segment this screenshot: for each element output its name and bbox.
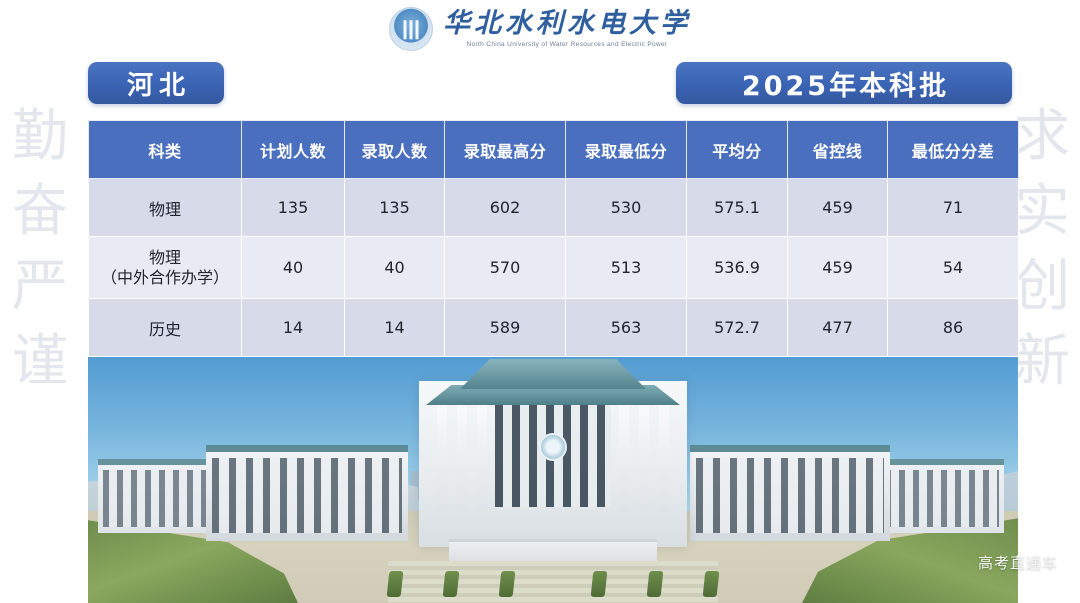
table-row: 物理 135 135 602 530 575.1 459 71 xyxy=(89,179,1019,237)
watermark-left-char-4: 谨 xyxy=(12,333,68,390)
cell-planned: 135 xyxy=(242,179,345,237)
watermark-left: 勤 奋 严 谨 xyxy=(0,108,82,390)
cell-min-diff: 86 xyxy=(888,299,1019,357)
photo-stairs xyxy=(388,561,718,603)
column-header-avg-score: 平均分 xyxy=(687,121,788,179)
photo-column xyxy=(457,395,467,511)
column-header-provincial-line: 省控线 xyxy=(788,121,888,179)
photo-shrub xyxy=(499,571,516,597)
photo-shrub xyxy=(647,571,664,597)
photo-shrub xyxy=(703,571,720,597)
admission-score-table: 科类 计划人数 录取人数 录取最高分 录取最低分 平均分 省控线 最低分分差 物… xyxy=(88,120,1018,357)
column-header-min-diff: 最低分分差 xyxy=(888,121,1019,179)
table-row: 物理 （中外合作办学） 40 40 570 513 536.9 459 54 xyxy=(89,237,1019,299)
column-header-min-score: 录取最低分 xyxy=(566,121,687,179)
photo-column xyxy=(437,395,447,511)
photo-column xyxy=(477,395,487,511)
photo-shrub xyxy=(387,571,404,597)
cell-max-score: 589 xyxy=(445,299,566,357)
cell-planned: 14 xyxy=(242,299,345,357)
cell-provincial-line: 459 xyxy=(788,237,888,299)
region-badge[interactable]: 河北 xyxy=(88,62,224,104)
cell-avg-score: 575.1 xyxy=(687,179,788,237)
cell-avg-score: 536.9 xyxy=(687,237,788,299)
photo-roof-upper xyxy=(460,359,646,389)
cell-min-diff: 54 xyxy=(888,237,1019,299)
cell-min-score: 530 xyxy=(566,179,687,237)
cell-admitted: 40 xyxy=(345,237,445,299)
photo-building-outer-left xyxy=(98,459,216,533)
cell-subject-main: 物理 xyxy=(149,248,181,267)
column-header-max-score: 录取最高分 xyxy=(445,121,566,179)
channel-watermark: 高考直通车 xyxy=(978,552,1058,573)
column-header-subject: 科类 xyxy=(89,121,242,179)
column-header-admitted: 录取人数 xyxy=(345,121,445,179)
photo-shrub xyxy=(443,571,460,597)
watermark-right-char-4: 新 xyxy=(1014,333,1070,390)
cell-min-diff: 71 xyxy=(888,179,1019,237)
university-name-cn: 华北水利水电大学 xyxy=(443,10,691,38)
watermark-left-char-2: 奋 xyxy=(12,183,68,240)
cell-provincial-line: 477 xyxy=(788,299,888,357)
cell-subject: 物理 xyxy=(89,179,242,237)
table-row: 历史 14 14 589 563 572.7 477 86 xyxy=(89,299,1019,357)
cell-avg-score: 572.7 xyxy=(687,299,788,357)
cell-provincial-line: 459 xyxy=(788,179,888,237)
photo-column xyxy=(619,395,629,511)
cell-max-score: 602 xyxy=(445,179,566,237)
watermark-right-char-2: 实 xyxy=(1014,183,1070,240)
university-title-block: 华北水利水电大学 North China University of Water… xyxy=(443,10,691,48)
batch-badge[interactable]: 2025年本科批 xyxy=(676,62,1012,104)
cell-subject: 历史 xyxy=(89,299,242,357)
cell-admitted: 135 xyxy=(345,179,445,237)
campus-photo xyxy=(88,351,1018,603)
photo-column xyxy=(659,395,669,511)
photo-main-building xyxy=(419,381,687,547)
watermark-left-char-3: 严 xyxy=(12,258,68,315)
photo-building-outer-right xyxy=(880,459,1004,533)
cell-max-score: 570 xyxy=(445,237,566,299)
badge-row: 河北 2025年本科批 xyxy=(0,62,1080,114)
watermark-right-char-3: 创 xyxy=(1014,258,1070,315)
cell-planned: 40 xyxy=(242,237,345,299)
cell-admitted: 14 xyxy=(345,299,445,357)
column-header-planned: 计划人数 xyxy=(242,121,345,179)
photo-column xyxy=(639,395,649,511)
page-header: 华北水利水电大学 North China University of Water… xyxy=(0,0,1080,58)
photo-building-emblem-icon xyxy=(539,433,567,461)
university-emblem-icon xyxy=(389,7,433,51)
cell-min-score: 563 xyxy=(566,299,687,357)
cell-min-score: 513 xyxy=(566,237,687,299)
table-header-row: 科类 计划人数 录取人数 录取最高分 录取最低分 平均分 省控线 最低分分差 xyxy=(89,121,1019,179)
watermark-left-char-1: 勤 xyxy=(12,108,68,165)
watermark-right-char-1: 求 xyxy=(1014,108,1070,165)
photo-building-wing-right xyxy=(690,445,890,541)
cell-subject: 物理 （中外合作办学） xyxy=(89,237,242,299)
photo-shrub xyxy=(591,571,608,597)
university-name-en: North China University of Water Resource… xyxy=(466,41,667,48)
photo-building-wing-left xyxy=(206,445,408,541)
cell-subject-sub: （中外合作办学） xyxy=(89,268,241,288)
